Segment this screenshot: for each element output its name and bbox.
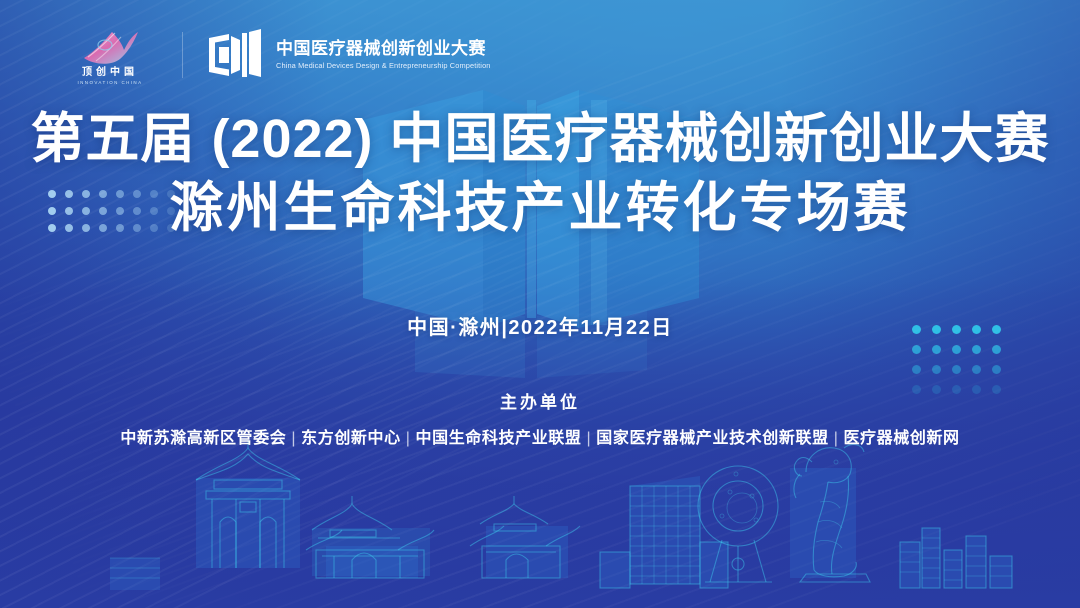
organizer-item: 中新苏滁高新区管委会 xyxy=(120,430,286,447)
innovation-logo-cn: 顶创中国 xyxy=(82,68,138,78)
logo-divider xyxy=(182,32,183,78)
organizer-separator: | xyxy=(829,430,844,447)
innovation-logo-en: INNOVATION CHINA xyxy=(78,80,143,86)
organizer-separator: | xyxy=(286,430,301,447)
competition-logo-en: China Medical Devices Design & Entrepren… xyxy=(276,62,491,71)
event-banner: 顶创中国 INNOVATION CHINA 中国医疗器械创新创业大赛 China… xyxy=(0,0,1080,608)
bird-mark-icon xyxy=(78,28,142,66)
organizer-separator: | xyxy=(582,430,597,447)
organizers-heading: 主办单位 xyxy=(0,388,1080,413)
title-block: 第五届 (2022) 中国医疗器械创新创业大赛 滁州生命科技产业转化专场赛 xyxy=(0,108,1080,239)
organizer-item: 东方创新中心 xyxy=(301,430,401,447)
title-line-2: 滁州生命科技产业转化专场赛 xyxy=(0,177,1080,240)
organizers-list: 中新苏滁高新区管委会|东方创新中心|中国生命科技产业联盟|国家医疗器械产业技术创… xyxy=(0,424,1080,448)
organizer-item: 中国生命科技产业联盟 xyxy=(416,430,582,447)
innovation-china-logo: 顶创中国 INNOVATION CHINA xyxy=(62,24,158,86)
header-logos: 顶创中国 INNOVATION CHINA 中国医疗器械创新创业大赛 China… xyxy=(62,24,491,86)
organizer-separator: | xyxy=(401,430,416,447)
organizer-item: 国家医疗器械产业技术创新联盟 xyxy=(596,430,828,447)
organizer-item: 医疗器械创新网 xyxy=(843,430,959,447)
competition-logo-cn: 中国医疗器械创新创业大赛 xyxy=(276,39,491,59)
title-line-1: 第五届 (2022) 中国医疗器械创新创业大赛 xyxy=(0,108,1080,171)
dateline: 中国·滁州|2022年11月22日 xyxy=(0,311,1080,340)
open-door-mark-icon xyxy=(207,29,263,81)
competition-logo: 中国医疗器械创新创业大赛 China Medical Devices Desig… xyxy=(207,29,491,81)
